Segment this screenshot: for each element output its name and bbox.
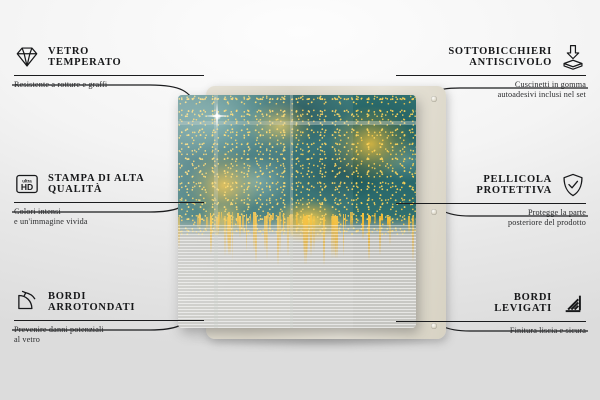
gold-drip	[381, 214, 383, 222]
callout-pellicola-protettiva: PELLICOLAPROTETTIVA Protegge la parte po…	[396, 170, 586, 229]
gold-drip	[272, 213, 274, 221]
svg-text:HD: HD	[21, 182, 33, 192]
callout-sottobicchieri-antiscivolo: SOTTOBICCHIERIANTISCIVOLO Cuscinetti in …	[396, 42, 586, 101]
callout-rule	[14, 202, 204, 203]
callout-rule	[14, 75, 204, 76]
callout-vetro-temperato: VETROTEMPERATO Resistente a rotture e gr…	[14, 42, 204, 90]
callout-description: Colori intensi e un'immagine vivida	[14, 207, 204, 227]
callout-title: STAMPA DI ALTAQUALITÀ	[48, 173, 144, 196]
polished-edge-icon	[560, 290, 586, 316]
callout-rule	[14, 320, 204, 321]
gold-drip	[221, 212, 223, 220]
callout-title: PELLICOLAPROTETTIVA	[476, 174, 552, 197]
callout-description: Protegge la parte posteriore del prodott…	[396, 208, 586, 228]
glass-panel	[178, 95, 416, 328]
infographic-stage: VETROTEMPERATO Resistente a rotture e gr…	[0, 0, 600, 400]
rounded-corner-icon	[14, 289, 40, 315]
callout-bordi-arrotondati: BORDIARROTONDATI Prevenire danni potenzi…	[14, 287, 204, 346]
gold-drip	[296, 215, 297, 226]
gold-drip	[374, 213, 376, 225]
ultra-hd-badge-icon: ultra HD	[14, 171, 40, 197]
callout-title: BORDILEVIGATI	[494, 292, 552, 315]
callout-bordi-levigati: BORDILEVIGATI Finitura liscia e sicura	[396, 288, 586, 336]
callout-title: SOTTOBICCHIERIANTISCIVOLO	[448, 46, 552, 69]
diamond-icon	[14, 44, 40, 70]
linen-texture-lower	[178, 225, 416, 328]
callout-rule	[396, 75, 586, 76]
callout-rule	[396, 203, 586, 204]
callout-description: Prevenire danni potenziali al vetro	[14, 325, 204, 345]
callout-stampa-di-alta-qualita: ultra HD STAMPA DI ALTAQUALITÀ Colori in…	[14, 169, 204, 228]
callout-rule	[396, 321, 586, 322]
anti-slip-pad-icon	[560, 44, 586, 70]
shield-check-icon	[560, 172, 586, 198]
callout-description: Cuscinetti in gomma autoadesivi inclusi …	[396, 80, 586, 100]
callout-description: Resistente a rotture e graffi	[14, 80, 204, 90]
callout-description: Finitura liscia e sicura	[396, 326, 586, 336]
gold-drip	[250, 214, 251, 222]
callout-title: VETROTEMPERATO	[48, 46, 121, 69]
callout-title: BORDIARROTONDATI	[48, 291, 135, 314]
